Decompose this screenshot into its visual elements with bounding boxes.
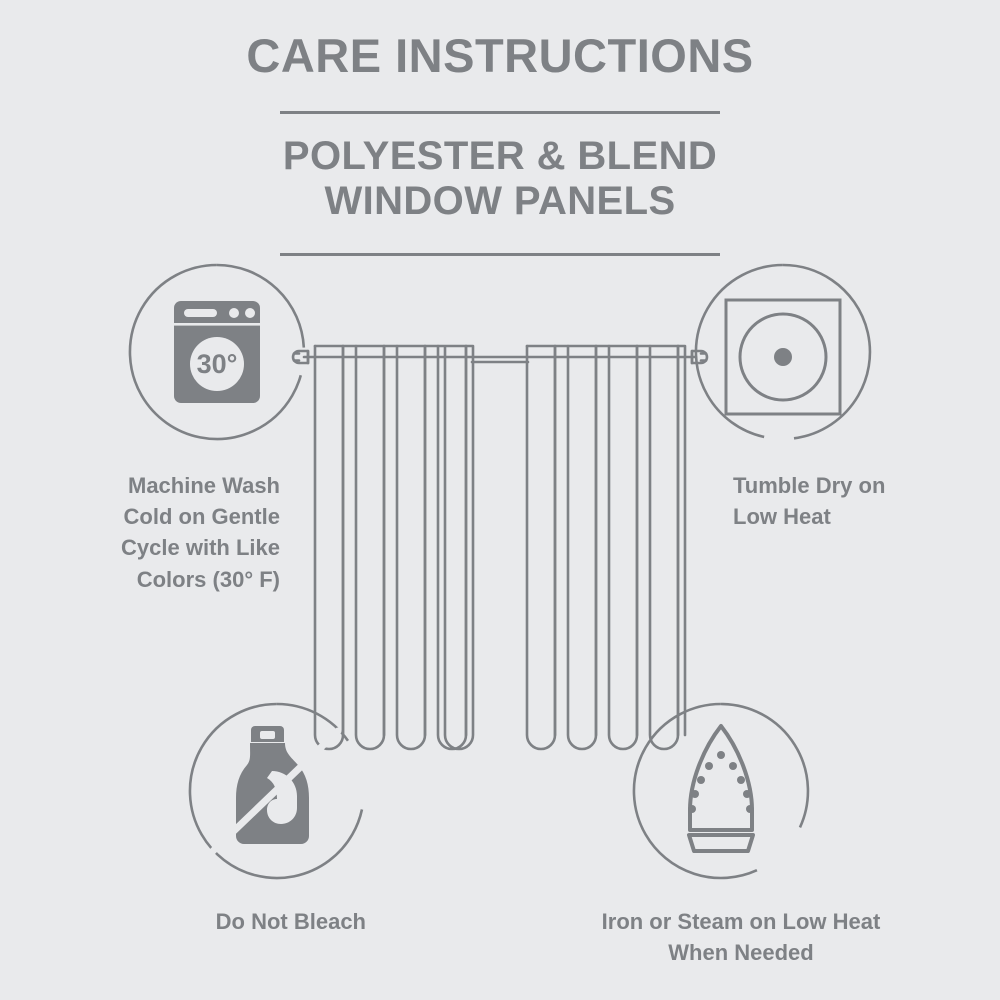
- curtain-panel-right: [527, 346, 685, 749]
- iron-soleplate-icon: [689, 726, 753, 851]
- iron-badge: [632, 702, 810, 880]
- caption-line: Cycle with Like: [0, 532, 280, 563]
- iron-caption: Iron or Steam on Low Heat When Needed: [566, 906, 916, 968]
- caption-line: Machine Wash: [0, 470, 280, 501]
- divider-bottom: [280, 253, 720, 256]
- divider-top: [280, 111, 720, 114]
- do-not-bleach-badge: [188, 702, 366, 880]
- caption-line: Do Not Bleach: [0, 906, 366, 937]
- iron-steam-holes: [688, 751, 754, 813]
- dryer-heat-dot: [774, 348, 792, 366]
- caption-line: Cold on Gentle: [0, 501, 280, 532]
- curtain-panel-left: [315, 346, 473, 749]
- caption-line: Tumble Dry on: [733, 470, 885, 501]
- machine-wash-caption: Machine Wash Cold on Gentle Cycle with L…: [0, 470, 280, 595]
- caption-line: Low Heat: [733, 501, 885, 532]
- subtitle-line-2: WINDOW PANELS: [0, 179, 1000, 224]
- caption-line: Colors (30° F): [0, 564, 280, 595]
- wash-temperature-label: 30°: [197, 349, 238, 379]
- subtitle-line-1: POLYESTER & BLEND: [0, 134, 1000, 179]
- tumble-dry-caption: Tumble Dry on Low Heat: [733, 470, 885, 532]
- care-instructions-infographic: CARE INSTRUCTIONS POLYESTER & BLEND WIND…: [0, 0, 1000, 1000]
- caption-line: Iron or Steam on Low Heat: [566, 906, 916, 937]
- tumble-dry-badge: [694, 263, 872, 441]
- page-subtitle: POLYESTER & BLEND WINDOW PANELS: [0, 134, 1000, 224]
- caption-line: When Needed: [566, 937, 916, 968]
- bleach-bottle-icon: [236, 726, 309, 844]
- page-title: CARE INSTRUCTIONS: [0, 32, 1000, 79]
- machine-wash-badge: 30°: [128, 263, 306, 441]
- do-not-bleach-caption: Do Not Bleach: [0, 906, 366, 937]
